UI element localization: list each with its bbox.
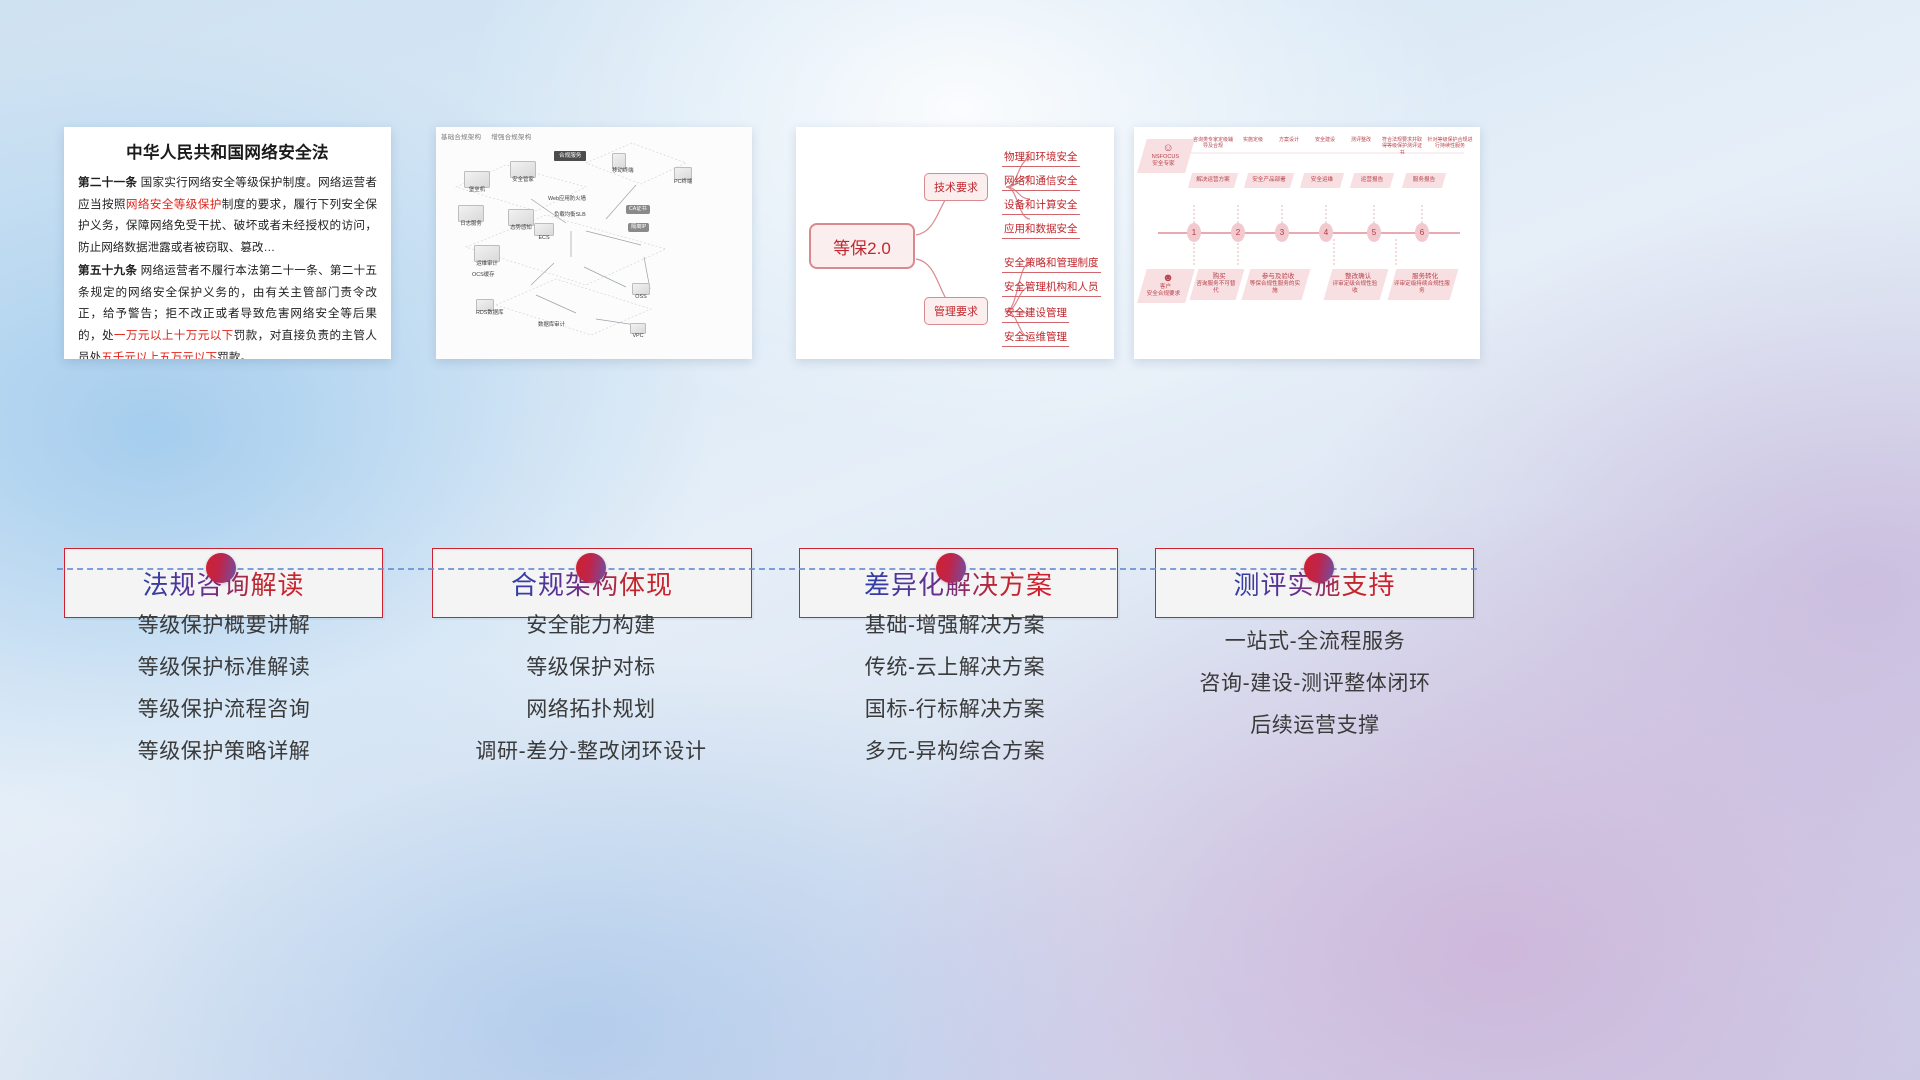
architecture-diagram: 基础合规架构增强合规架构 [436,127,752,359]
flow-bottom-chip-0: 购买 咨询服务不可替代 [1190,269,1245,300]
server-icon [508,209,534,226]
person-star-icon: ☺ [1147,143,1189,154]
expert-badge: ☺ NSFOCUS 安全专家 [1137,139,1195,173]
list-item: 等级保护标准解读 [64,647,384,689]
mindmap-branch-management[interactable]: 管理要求 [924,297,988,325]
card-cybersecurity-law[interactable]: 中华人民共和国网络安全法 第二十一条 国家实行网络安全等级保护制度。网络运营者应… [64,127,391,359]
timeline-dot-1[interactable] [206,553,236,583]
list-item: 多元-异构综合方案 [792,731,1118,773]
flow-stage-2: 安全运维 [1300,173,1344,188]
flow-bottom-chip-1: 参与及验收 等保合规性服务的实施 [1242,269,1311,300]
flow-stage-4: 服务报告 [1402,173,1446,188]
card-service-flow[interactable]: ☺ NSFOCUS 安全专家 咨询类专家定级辅导及合规 实施定级 方案设计 安全… [1134,127,1480,359]
mindmap-leaf-mgmt-2: 安全建设管理 [1002,305,1069,323]
flow-number-3: 3 [1275,223,1289,242]
architecture-node-12: 数据库审计 [538,323,565,329]
list-item: 后续运营支撑 [1152,705,1478,747]
law-article-59-text-c: 罚款。 [217,351,252,360]
mindmap-leaf-tech-2: 设备和计算安全 [1002,197,1080,215]
timeline-dot-4[interactable] [1304,553,1334,583]
flow-top-step-3: 安全建设 [1310,137,1340,143]
flow-top-step-4: 测评整改 [1346,137,1376,143]
mindmap-leaf-mgmt-3: 安全运维管理 [1002,329,1069,347]
architecture-connectors [436,127,752,359]
law-article-59-highlight-1: 一万元以上十万元以下 [114,329,234,342]
law-article-59-label: 第五十九条 [78,264,137,277]
flow-top-step-6: 针对等级保护合规进行持续性服务 [1426,137,1474,150]
architecture-node-3: 态势感知 [508,209,534,232]
architecture-node-5: Web应用防火墙 [548,197,586,203]
list-item: 咨询-建设-测评整体闭环 [1152,663,1478,705]
timeline-dot-3[interactable] [936,553,966,583]
mobile-terminal-icon [612,153,626,169]
law-article-59-highlight-2: 五千元以上五万元以下 [101,351,217,360]
mindmap-leaf-tech-0: 物理和环境安全 [1002,149,1080,167]
architecture-node-7: ECS [534,223,554,242]
flow-stage-1: 安全产品部署 [1244,173,1294,188]
server-icon [474,245,500,262]
architecture-node-11: RDS数据库 [476,299,504,317]
flow-bottom-chip-2: 整改确认 评审定级合规性验收 [1324,269,1389,300]
mindmap-branch-technical[interactable]: 技术要求 [924,173,988,201]
server-icon [510,161,536,178]
list-item: 等级保护流程咨询 [64,689,384,731]
law-article-21-label: 第二十一条 [78,176,137,189]
list-item: 等级保护策略详解 [64,731,384,773]
flow-number-1: 1 [1187,223,1201,242]
list-column-1: 等级保护概要讲解 等级保护标准解读 等级保护流程咨询 等级保护策略详解 [64,605,384,773]
architecture-node-6: 负载均衡SLB [554,213,586,219]
architecture-node-15: PC终端 [674,167,692,186]
customer-badge: ☻ 客户 安全合规要求 [1137,269,1195,303]
flow-stage-3: 运营报告 [1350,173,1394,188]
flow-stage-0: 解决运营方案 [1188,173,1238,188]
list-item: 一站式-全流程服务 [1152,621,1478,663]
architecture-tag-main: 合规服务 [554,151,586,161]
architecture-node-16: 移动终端 [612,153,634,175]
flow-top-step-0: 咨询类专家定级辅导及合规 [1192,137,1234,150]
architecture-node-2: 日志服务 [458,205,484,228]
person-check-icon: ☻ [1147,273,1189,284]
mindmap-leaf-tech-3: 应用和数据安全 [1002,221,1080,239]
list-item: 国标-行标解决方案 [792,689,1118,731]
list-column-4: 一站式-全流程服务 咨询-建设-测评整体闭环 后续运营支撑 [1152,621,1478,747]
timeline-dot-2[interactable] [576,553,606,583]
cards-row: 中华人民共和国网络安全法 第二十一条 国家实行网络安全等级保护制度。网络运营者应… [0,0,1920,430]
law-article-21: 第二十一条 国家实行网络安全等级保护制度。网络运营者应当按照网络安全等级保护制度… [78,172,377,258]
mindmap-root[interactable]: 等保2.0 [809,223,915,269]
flow-bottom-chip-3: 服务转化 评审定级持续合规性服务 [1388,269,1459,300]
list-item: 基础-增强解决方案 [792,605,1118,647]
flow-number-2: 2 [1231,223,1245,242]
law-article-59: 第五十九条 网络运营者不履行本法第二十一条、第二十五条规定的网络安全保护义务的，… [78,260,377,359]
list-item: 等级保护对标 [430,647,752,689]
mindmap-leaf-mgmt-0: 安全策略和管理制度 [1002,255,1101,273]
list-item: 安全能力构建 [430,605,752,647]
architecture-node-10: OCS缓存 [472,273,494,279]
architecture-node-0: 堡垒机 [464,171,490,194]
server-icon [464,171,490,188]
flow-top-step-2: 方案设计 [1274,137,1304,143]
law-title: 中华人民共和国网络安全法 [78,139,377,163]
law-article-21-highlight: 网络安全等级保护 [126,198,222,211]
list-column-2: 安全能力构建 等级保护对标 网络拓扑规划 调研-差分-整改闭环设计 [430,605,752,773]
flow-number-4: 4 [1319,223,1333,242]
architecture-node-14: VPC [630,323,646,340]
list-item: 调研-差分-整改闭环设计 [430,731,752,773]
timeline-dashed-line [57,568,1477,570]
architecture-node-8: CA证书 [626,205,650,214]
lists-row: 等级保护概要讲解 等级保护标准解读 等级保护流程咨询 等级保护策略详解 安全能力… [0,605,1920,825]
flow-top-step-1: 实施定级 [1238,137,1268,143]
architecture-node-4: 运维审计 [474,245,500,268]
architecture-node-9: 隔离IP [628,223,649,232]
architecture-node-1: 安全管家 [510,161,536,184]
flow-number-6: 6 [1415,223,1429,242]
card-mindmap-dengbao[interactable]: 等保2.0 技术要求 物理和环境安全 网络和通信安全 设备和计算安全 应用和数据… [796,127,1114,359]
list-column-3: 基础-增强解决方案 传统-云上解决方案 国标-行标解决方案 多元-异构综合方案 [792,605,1118,773]
mindmap: 等保2.0 技术要求 物理和环境安全 网络和通信安全 设备和计算安全 应用和数据… [796,127,1114,359]
mindmap-leaf-mgmt-1: 安全管理机构和人员 [1002,279,1101,297]
list-item: 等级保护概要讲解 [64,605,384,647]
service-flow-diagram: ☺ NSFOCUS 安全专家 咨询类专家定级辅导及合规 实施定级 方案设计 安全… [1134,127,1480,359]
mindmap-leaf-tech-1: 网络和通信安全 [1002,173,1080,191]
list-item: 网络拓扑规划 [430,689,752,731]
list-item: 传统-云上解决方案 [792,647,1118,689]
flow-number-5: 5 [1367,223,1381,242]
law-content: 中华人民共和国网络安全法 第二十一条 国家实行网络安全等级保护制度。网络运营者应… [64,127,391,359]
card-compliance-architecture[interactable]: 基础合规架构增强合规架构 [436,127,752,359]
server-icon [458,205,484,222]
architecture-node-13: OSS [632,283,650,301]
flow-top-step-5: 符合法规要求并取得等级保护测评证书 [1380,137,1424,156]
